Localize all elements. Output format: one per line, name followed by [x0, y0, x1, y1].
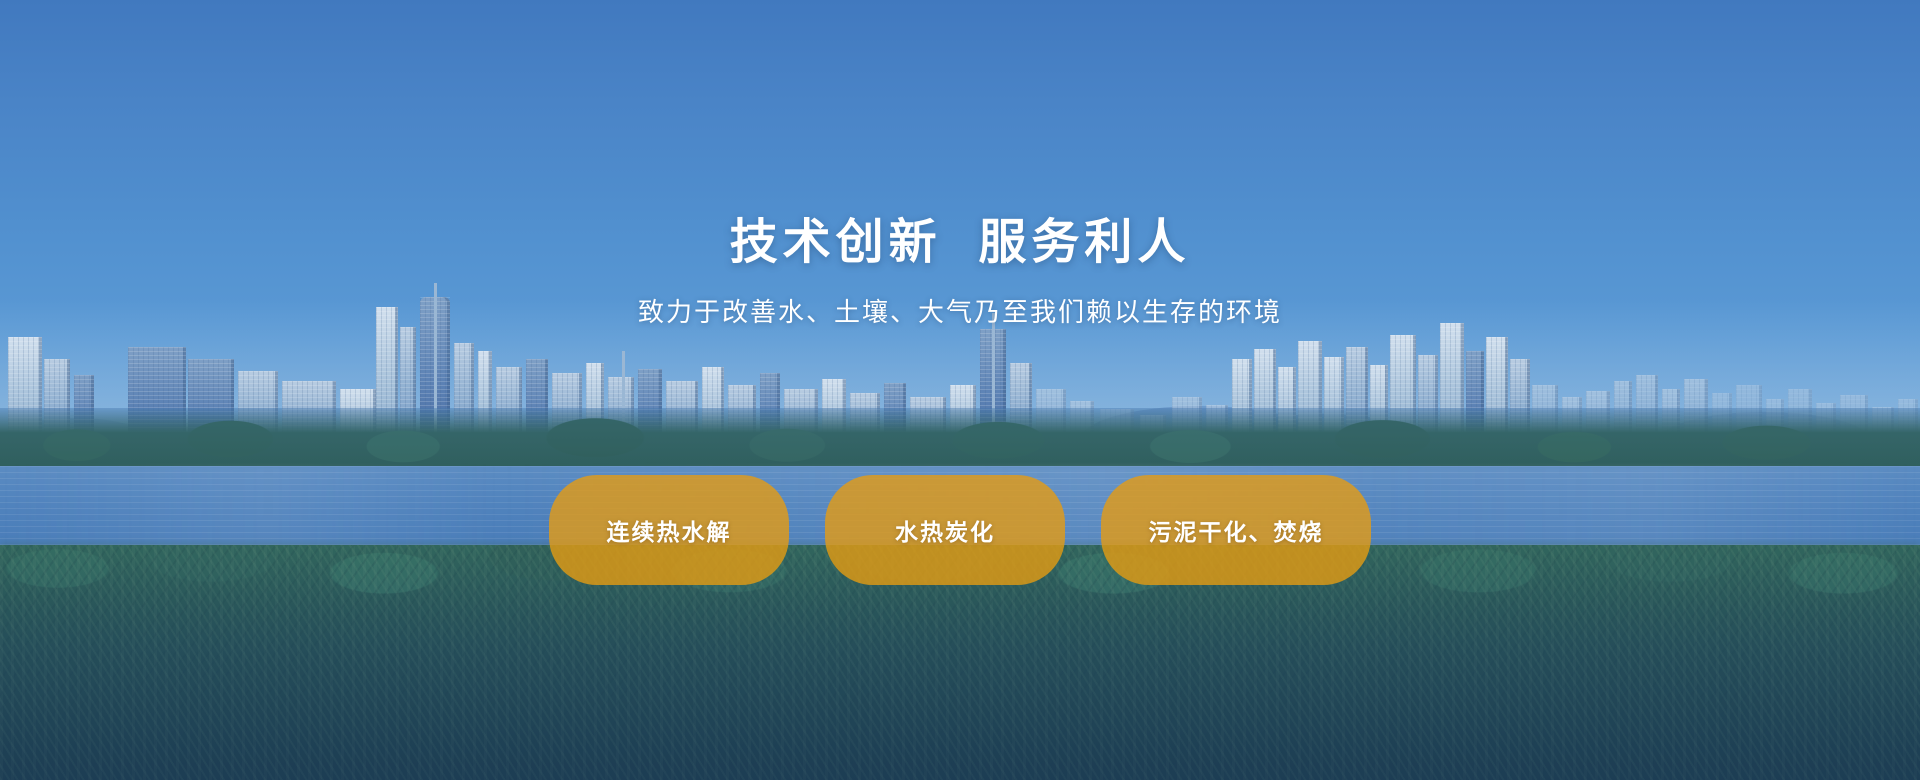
service-pill-label: 连续热水解	[607, 513, 732, 547]
service-pill-sludge-drying-incineration[interactable]: 污泥干化、焚烧	[1101, 475, 1371, 585]
service-pill-row: 连续热水解 水热炭化 污泥干化、焚烧	[549, 475, 1371, 585]
service-pill-hydrothermal-carbonization[interactable]: 水热炭化	[825, 475, 1065, 585]
service-pill-label: 水热炭化	[895, 513, 995, 547]
hero-banner: 技术创新 服务利人 致力于改善水、土壤、大气乃至我们赖以生存的环境 连续热水解 …	[0, 0, 1920, 780]
mid-tree-belt-tint	[0, 408, 1920, 470]
service-pill-continuous-thermal-hydrolysis[interactable]: 连续热水解	[549, 475, 789, 585]
service-pill-label: 污泥干化、焚烧	[1149, 513, 1324, 547]
